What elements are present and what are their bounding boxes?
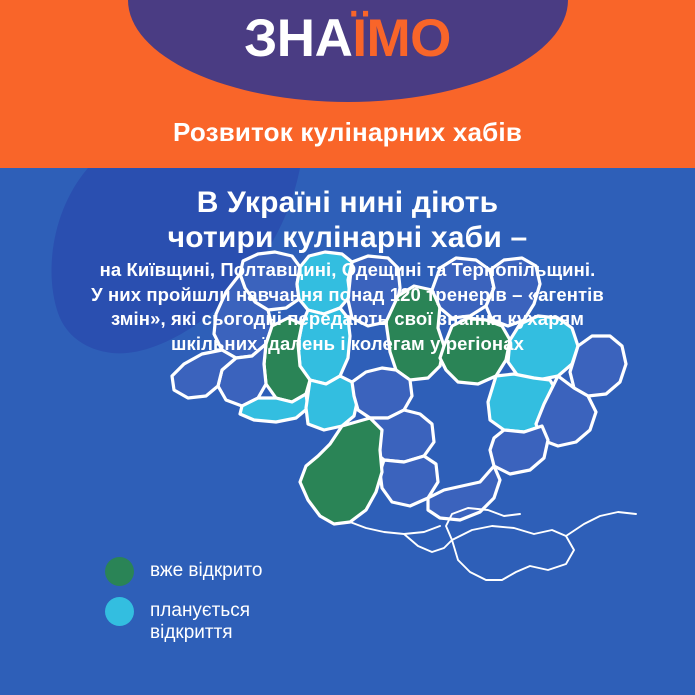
logo-text-orange: ЇМО (352, 9, 451, 68)
headline: В Україні нині діють чотири кулінарні ха… (0, 185, 695, 255)
headline-line-2: чотири кулінарні хаби – (0, 220, 695, 255)
lede-line-1: на Київщині, Полтавщині, Одещині та Терн… (34, 258, 661, 283)
crimea-connector (446, 508, 520, 540)
lede-paragraph: на Київщині, Полтавщині, Одещині та Терн… (34, 258, 661, 356)
green-dot-icon (105, 557, 134, 586)
header-subtitle: Розвиток кулінарних хабів (0, 117, 695, 148)
region-vinnytsia (306, 376, 358, 430)
infographic-root: ЗНАЇМО Розвиток кулінарних хабів (0, 0, 695, 695)
azov-coastline (566, 512, 636, 536)
body-band: В Україні нині діють чотири кулінарні ха… (0, 168, 695, 695)
dnipro-estuary (404, 534, 452, 552)
region-crimea (452, 526, 574, 580)
region-zaporizhzhia (490, 426, 548, 474)
cyan-dot-icon (105, 597, 134, 626)
map-legend: вже відкрито планується відкриття (105, 557, 262, 655)
legend-item-planned: планується відкриття (105, 597, 262, 644)
lede-line-3: змін», які сьогодні передають свої знанн… (34, 307, 661, 332)
headline-line-1: В Україні нині діють (197, 186, 499, 219)
black-sea-coast (350, 522, 440, 534)
lede-line-2: У них пройшли навчання понад 120 тренері… (34, 283, 661, 308)
lede-line-4: шкільних їдалень і колегам у регіонах (34, 332, 661, 357)
legend-label-planned-line-2: відкриття (150, 622, 250, 644)
region-odesa (300, 418, 382, 524)
legend-label-open: вже відкрито (150, 557, 262, 582)
legend-label-planned: планується відкриття (150, 597, 250, 644)
legend-label-planned-line-1: планується (150, 600, 250, 622)
brand-logo: ЗНАЇМО (0, 12, 695, 65)
legend-item-open: вже відкрито (105, 557, 262, 586)
logo-text-white: ЗНА (244, 9, 352, 68)
region-kherson (428, 466, 500, 520)
